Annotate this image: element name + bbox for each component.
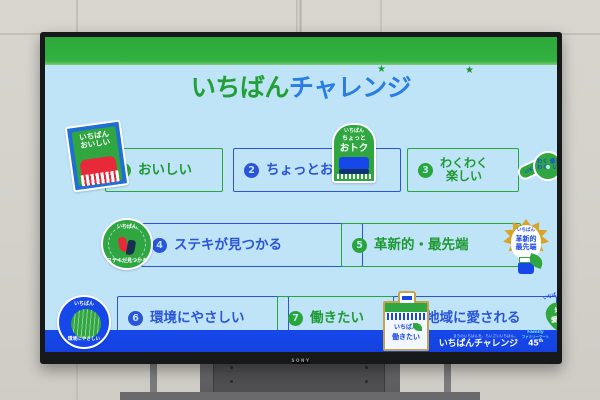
wakuwaku-balloon-badge-icon: いちばん わくわく 楽しい [517, 149, 557, 191]
title-blue-part: チャレンジ [289, 73, 411, 102]
badge7-line2: 働きたい [385, 334, 427, 341]
kakushinteki-lightbulb-badge-icon: いちばん 革新的 最先端 [501, 219, 551, 279]
star-icon: ★ [377, 64, 386, 75]
screw-hole [365, 366, 368, 369]
kankyo-eco-badge-icon: いちばん 環境にやさしい [57, 295, 111, 349]
screw-hole [230, 380, 233, 383]
badge5-line1: いちばん [501, 229, 551, 234]
ichiban-otoku-badge-icon: いちばん ちょっと おトク [332, 123, 376, 183]
badge2-line2: ちょっと [334, 136, 374, 142]
badge8-line1: いちばん [543, 290, 557, 301]
badge4-line1: いちばん [103, 225, 151, 230]
item-card-3[interactable]: 3 わくわく 楽しい [407, 148, 519, 192]
item-label-5: 革新的・最先端 [374, 238, 469, 253]
item-label-1: おいしい [138, 163, 192, 178]
badge3-head: わくわく 楽しい [533, 151, 557, 181]
footer-logo-text: いちばんチャレンジ [439, 340, 518, 349]
badge3-line-b: 楽しい [550, 160, 557, 172]
badge4-line2: ステキが見つかる [103, 259, 151, 264]
item-number-3: 3 [418, 163, 433, 178]
slide-title: いちばんチャレンジ [45, 68, 557, 104]
badge6-line2: 環境にやさしい [59, 338, 109, 343]
tv-stand-foot [120, 392, 480, 400]
footer-logo: まちのいちばんを、ちいさいいちばん。 いちばんチャレンジ Family ファミリ… [439, 331, 549, 349]
item-label-3-line2: 楽しい [446, 169, 482, 183]
item-label-8: 地域に愛される [426, 311, 521, 326]
title-green-part: いちばん [191, 73, 289, 102]
item-label-4: ステキが見つかる [174, 238, 282, 253]
item-number-5: 5 [352, 238, 367, 253]
ceiling-pole [296, 0, 301, 36]
item-card-4[interactable]: 4 ステキが見つかる [141, 223, 363, 267]
hatarakitai-bag-badge-icon: いちばん 働きたい [383, 289, 429, 351]
item-label-6: 環境にやさしい [150, 311, 245, 326]
television[interactable]: SONY いちばんチャレンジ ★ ★ 1 おいしい 2 ちょっとおトク [40, 32, 562, 364]
item-label-3-line1: わくわく [440, 156, 488, 170]
ichiban-oishii-badge-icon: いちばん おいしい [65, 119, 130, 192]
item-number-4: 4 [152, 238, 167, 253]
badge5-line3: 最先端 [501, 244, 551, 251]
badge6-line1: いちばん [59, 302, 109, 307]
item-card-5[interactable]: 5 革新的・最先端 [341, 223, 521, 267]
item-label-7: 働きたい [310, 311, 364, 326]
footer-tagline: まちのいちばんを、ちいさいいちばん。 [439, 335, 518, 338]
screw-hole [365, 380, 368, 383]
item-number-2: 2 [244, 163, 259, 178]
item-label-3: わくわく 楽しい [440, 157, 488, 183]
item-number-7: 7 [288, 311, 303, 326]
slide-top-band [45, 37, 557, 65]
presentation-slide: いちばんチャレンジ ★ ★ 1 おいしい 2 ちょっとおトク 3 わくわく [45, 37, 557, 352]
badge2-line1: いちばん [334, 129, 374, 134]
screw-hole [230, 366, 233, 369]
room-scene: SONY いちばんチャレンジ ★ ★ 1 おいしい 2 ちょっとおトク [0, 0, 600, 400]
suteki-sock-badge-icon: いちばん ステキが見つかる [101, 218, 153, 270]
star-icon: ★ [465, 65, 474, 76]
chiiki-heart-badge-icon: いちばん 地域に 愛される [539, 293, 557, 343]
item-number-6: 6 [128, 311, 143, 326]
tv-brand-logo: SONY [40, 358, 562, 363]
badge2-line3: おトク [334, 144, 374, 154]
